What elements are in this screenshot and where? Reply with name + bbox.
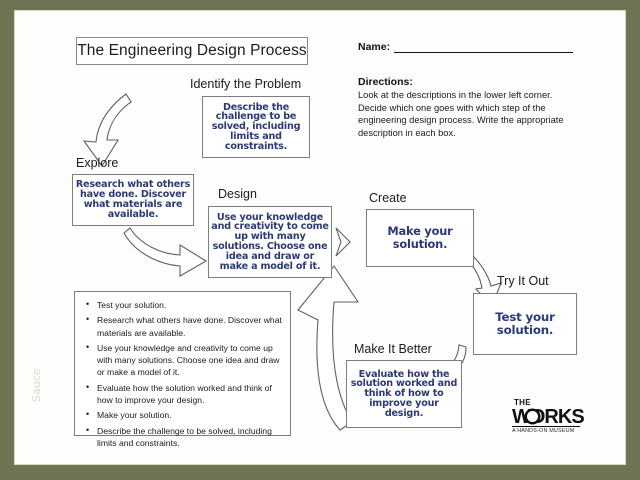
name-label: Name: bbox=[358, 41, 390, 53]
list-item: Test your solution. bbox=[97, 299, 282, 311]
list-item: Evaluate how the solution worked and thi… bbox=[97, 382, 282, 406]
arrow-design-to-create bbox=[336, 228, 350, 256]
list-item: Use your knowledge and creativity to com… bbox=[97, 342, 282, 379]
gear-icon bbox=[527, 411, 538, 422]
name-row: Name: bbox=[358, 39, 573, 53]
answer-box-try-it-out[interactable]: Test your solution. bbox=[473, 293, 577, 355]
caption-try-it-out: Try It Out bbox=[497, 274, 549, 288]
caption-design: Design bbox=[218, 187, 257, 201]
answer-box-identify-the-problem[interactable]: Describe the challenge to be solved, inc… bbox=[202, 96, 310, 158]
caption-make-it-better: Make It Better bbox=[354, 342, 432, 356]
photo-background: The Engineering Design Process Name: Dir… bbox=[0, 0, 640, 480]
list-item: Describe the challenge to be solved, inc… bbox=[97, 425, 282, 449]
answer-box-make-it-better[interactable]: Evaluate how the solution worked and thi… bbox=[346, 360, 462, 428]
directions-body: Look at the descriptions in the lower le… bbox=[358, 89, 570, 140]
answer-box-create[interactable]: Make your solution. bbox=[366, 209, 474, 267]
list-item: Research what others have done. Discover… bbox=[97, 314, 282, 338]
answer-box-design[interactable]: Use your knowledge and creativity to com… bbox=[208, 206, 332, 278]
list-item: Make your solution. bbox=[97, 409, 282, 421]
description-bank-box: Test your solution. Research what others… bbox=[74, 291, 291, 436]
page-title: The Engineering Design Process bbox=[77, 42, 307, 60]
logo-tagline: A HANDS-ON MUSEUM bbox=[512, 428, 574, 434]
directions-heading: Directions: bbox=[358, 76, 570, 88]
caption-explore: Explore bbox=[76, 156, 118, 170]
caption-create: Create bbox=[369, 191, 407, 205]
directions-block: Directions: Look at the descriptions in … bbox=[358, 76, 570, 140]
worksheet-page: The Engineering Design Process Name: Dir… bbox=[14, 10, 626, 465]
description-bank-list: Test your solution. Research what others… bbox=[79, 299, 282, 449]
name-input-line[interactable] bbox=[394, 39, 573, 53]
the-works-logo: THE WORKS A HANDS-ON MUSEUM bbox=[512, 398, 582, 442]
answer-box-explore[interactable]: Research what others have done. Discover… bbox=[72, 174, 194, 226]
margin-note: Sauce bbox=[30, 368, 43, 402]
caption-identify-the-problem: Identify the Problem bbox=[190, 77, 301, 91]
worksheet-title-box: The Engineering Design Process bbox=[76, 37, 308, 65]
logo-divider bbox=[512, 426, 580, 427]
arrow-explore-to-design bbox=[124, 228, 206, 276]
